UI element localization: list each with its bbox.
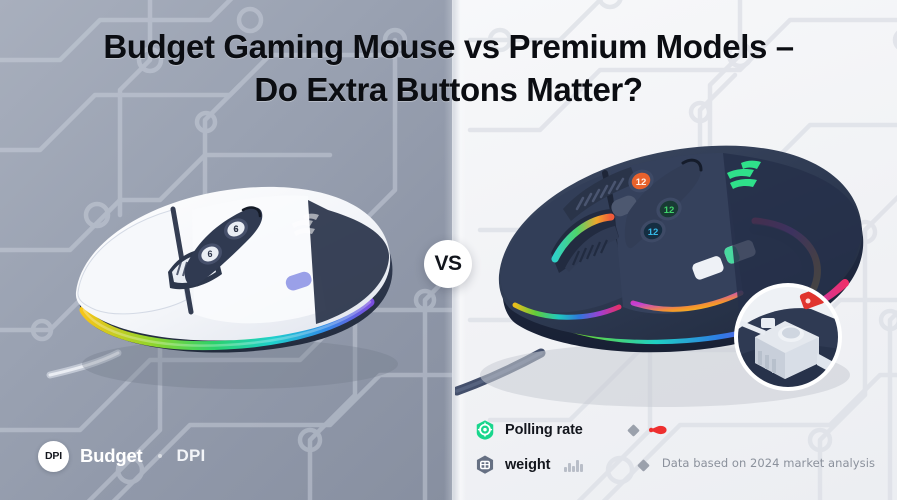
title-line-2: Do Extra Buttons Matter?: [0, 69, 897, 112]
infographic-canvas: Budget Gaming Mouse vs Premium Models – …: [0, 0, 897, 500]
svg-text:12: 12: [648, 227, 659, 238]
premium-mouse-illustration: 12 12 12: [455, 125, 875, 415]
weight-icon: [474, 454, 496, 476]
dpi-chip-icon: DPI: [38, 441, 69, 472]
legend-diamond-marker: [637, 459, 650, 472]
dpi-chip-text: DPI: [45, 450, 62, 462]
legend-row-weight: weight: [474, 453, 669, 477]
svg-text:6: 6: [207, 249, 212, 259]
svg-text:12: 12: [664, 205, 675, 216]
vs-label: VS: [434, 252, 461, 276]
budget-label: Budget: [80, 445, 143, 467]
footnote: Data based on 2024 market analysis: [662, 456, 875, 470]
svg-text:6: 6: [233, 224, 238, 234]
page-title: Budget Gaming Mouse vs Premium Models – …: [0, 26, 897, 112]
polling-rate-label: Polling rate: [505, 422, 583, 438]
budget-badge-row: DPI Budget DPI: [38, 440, 205, 472]
svg-text:12: 12: [636, 177, 647, 188]
polling-rate-icon: [474, 419, 496, 441]
dpi-label: DPI: [177, 446, 206, 466]
title-line-1: Budget Gaming Mouse vs Premium Models –: [103, 28, 793, 65]
budget-mouse-illustration: 6 6 6: [40, 150, 420, 400]
weight-bars-glyph: [564, 459, 583, 472]
legend-row-polling-rate: Polling rate: [474, 418, 669, 442]
legend: Polling rate weight: [474, 418, 669, 477]
badge-separator-dot: [158, 454, 162, 458]
red-pointer-marker-icon: [647, 424, 669, 436]
vs-badge: VS: [424, 240, 472, 288]
legend-diamond-marker: [627, 424, 640, 437]
weight-label: weight: [505, 457, 550, 473]
